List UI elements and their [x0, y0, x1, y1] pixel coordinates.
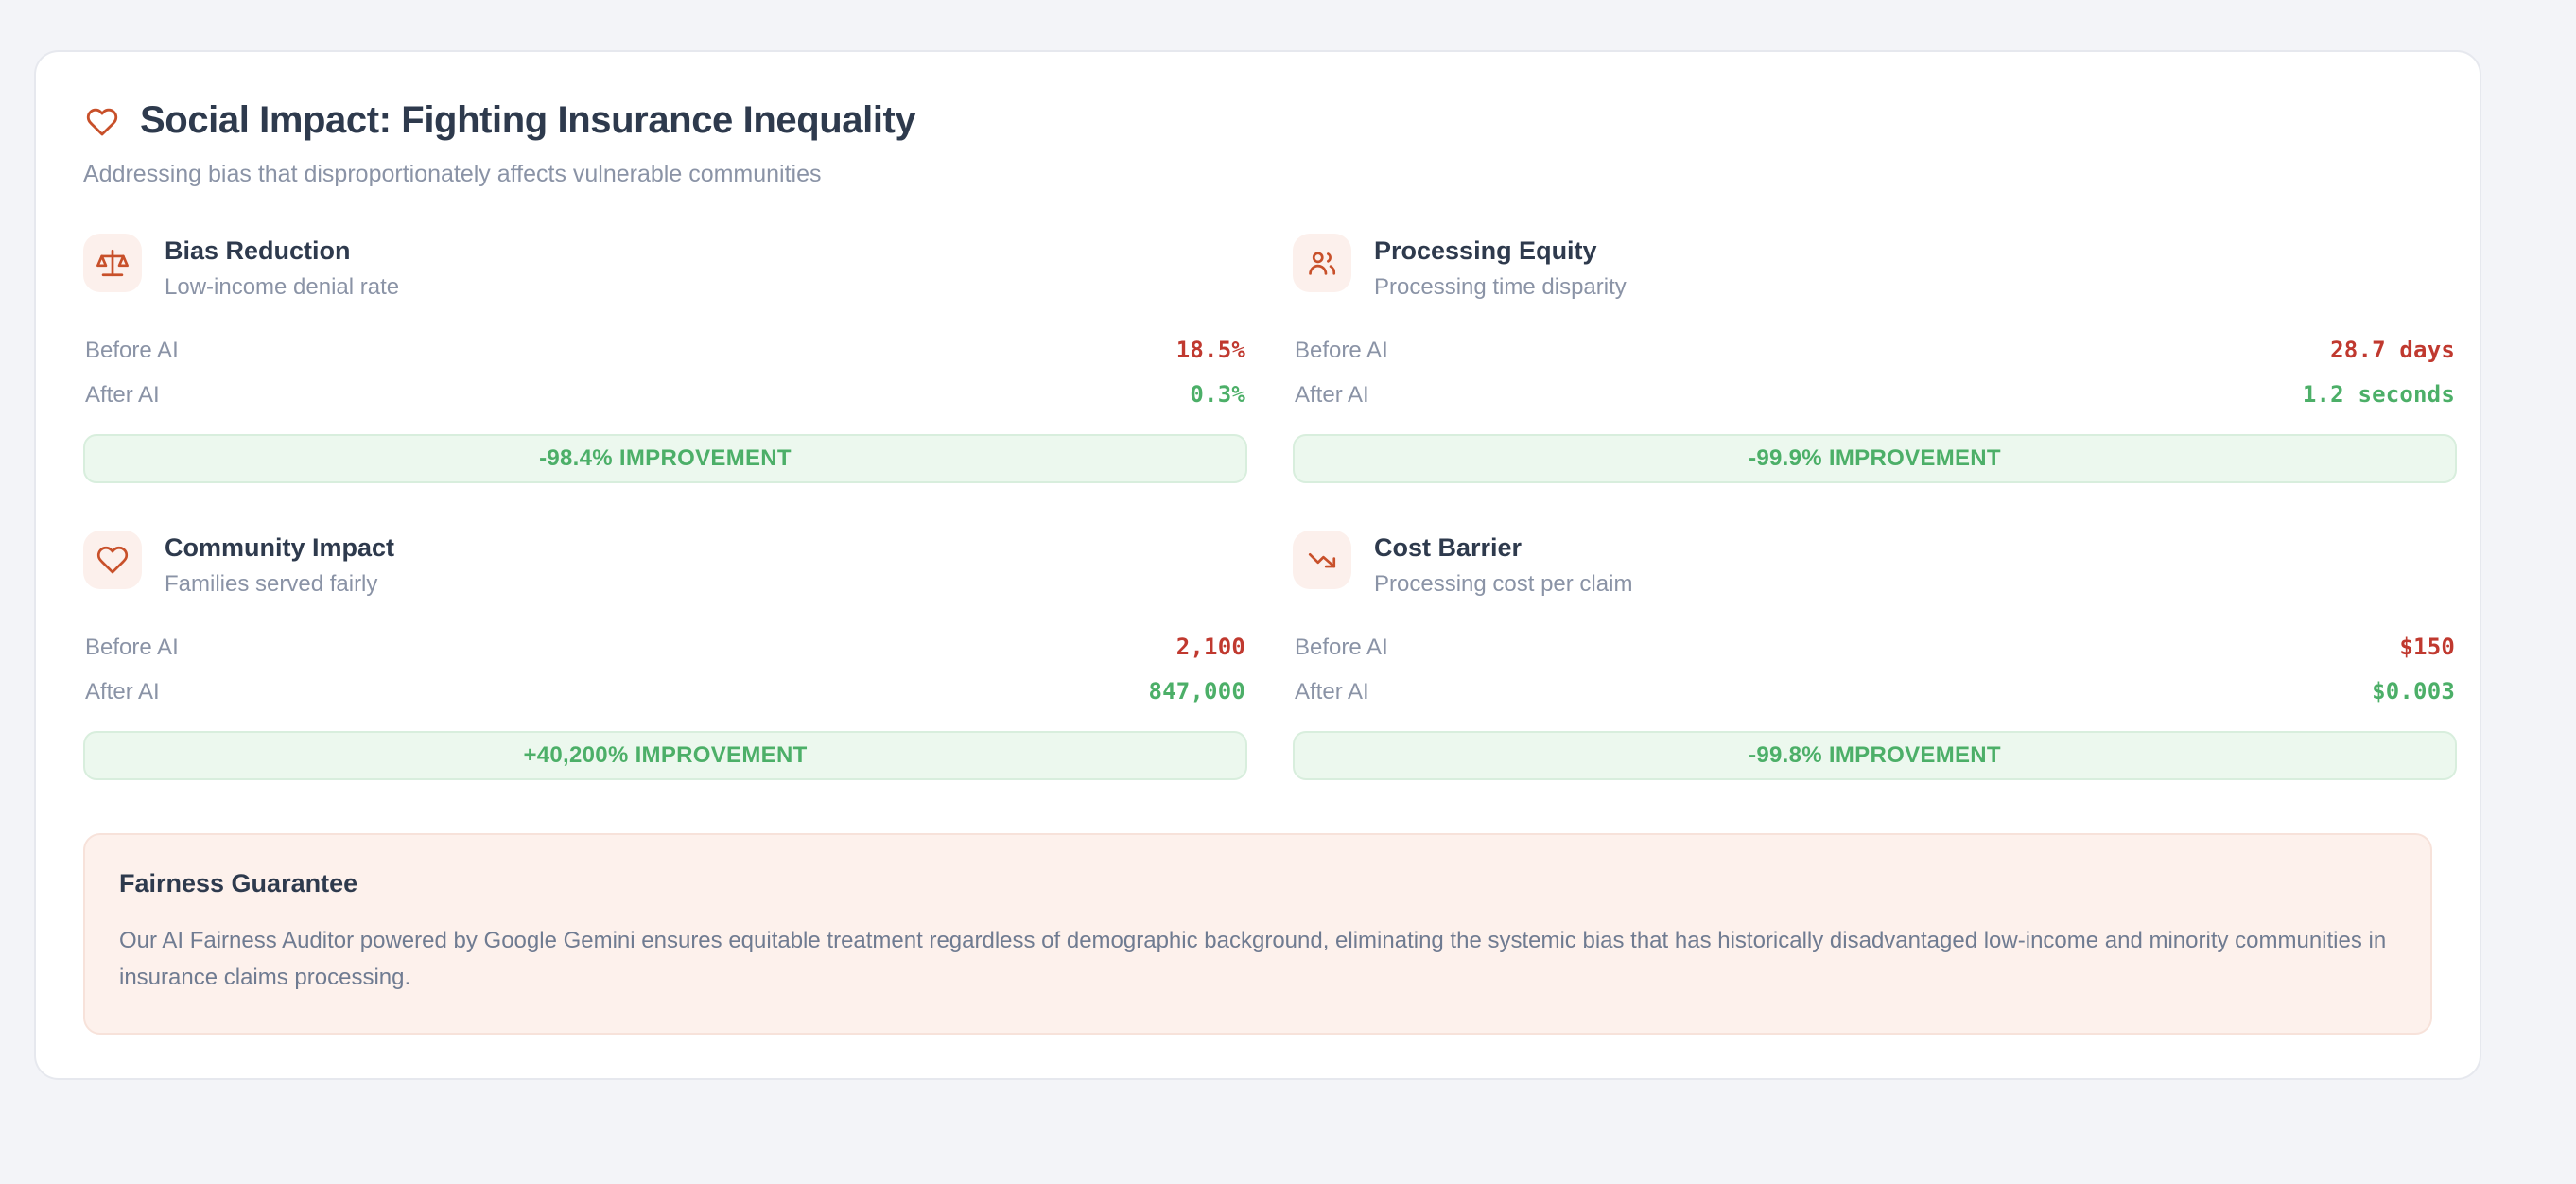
metric-header-text: Processing Equity Processing time dispar… [1374, 234, 1627, 302]
metric-title: Processing Equity [1374, 235, 1627, 266]
row-value-before: 18.5% [1176, 337, 1245, 363]
metric-title: Bias Reduction [165, 235, 399, 266]
metric-row-after: After AI 1.2 seconds [1293, 373, 2457, 417]
metric-row-after: After AI 0.3% [83, 373, 1247, 417]
users-icon [1293, 234, 1351, 292]
metric-card-cost-barrier: Cost Barrier Processing cost per claim B… [1293, 531, 2457, 780]
row-label-before: Before AI [1295, 338, 1388, 364]
improvement-badge: -99.9% IMPROVEMENT [1293, 434, 2457, 483]
fairness-guarantee-body: Our AI Fairness Auditor powered by Googl… [119, 923, 2396, 997]
heart-icon [83, 531, 142, 589]
metric-header: Bias Reduction Low-income denial rate [83, 234, 1247, 302]
metric-header-text: Cost Barrier Processing cost per claim [1374, 531, 1632, 599]
metric-card-processing-equity: Processing Equity Processing time dispar… [1293, 234, 2457, 483]
row-value-before: 2,100 [1176, 634, 1245, 660]
metric-header-text: Bias Reduction Low-income denial rate [165, 234, 399, 302]
metric-rows: Before AI 28.7 days After AI 1.2 seconds [1293, 328, 2457, 417]
row-label-after: After AI [1295, 679, 1369, 705]
fairness-guarantee-title: Fairness Guarantee [119, 868, 2396, 898]
panel-header: Social Impact: Fighting Insurance Inequa… [83, 97, 2432, 190]
metric-row-after: After AI 847,000 [83, 670, 1247, 714]
metric-row-after: After AI $0.003 [1293, 670, 2457, 714]
improvement-badge: -99.8% IMPROVEMENT [1293, 731, 2457, 780]
metric-subtitle: Processing time disparity [1374, 274, 1627, 302]
metric-title: Community Impact [165, 532, 394, 563]
metric-header: Community Impact Families served fairly [83, 531, 1247, 599]
heart-icon [83, 103, 121, 141]
row-label-before: Before AI [85, 338, 179, 364]
trending-down-icon [1293, 531, 1351, 589]
social-impact-panel: Social Impact: Fighting Insurance Inequa… [34, 50, 2481, 1080]
metric-card-bias-reduction: Bias Reduction Low-income denial rate Be… [83, 234, 1247, 483]
metric-rows: Before AI $150 After AI $0.003 [1293, 625, 2457, 714]
metric-card-community-impact: Community Impact Families served fairly … [83, 531, 1247, 780]
metric-rows: Before AI 18.5% After AI 0.3% [83, 328, 1247, 417]
metric-subtitle: Processing cost per claim [1374, 571, 1632, 599]
metric-title: Cost Barrier [1374, 532, 1632, 563]
improvement-label: -98.4% IMPROVEMENT [539, 445, 792, 472]
improvement-label: -99.9% IMPROVEMENT [1749, 445, 2001, 472]
improvement-badge: -98.4% IMPROVEMENT [83, 434, 1247, 483]
metric-header-text: Community Impact Families served fairly [165, 531, 394, 599]
improvement-label: -99.8% IMPROVEMENT [1749, 742, 2001, 769]
row-value-after: 1.2 seconds [2303, 381, 2455, 408]
row-label-after: After AI [85, 382, 160, 409]
metric-row-before: Before AI 28.7 days [1293, 328, 2457, 373]
row-value-after: 847,000 [1148, 678, 1245, 705]
improvement-badge: +40,200% IMPROVEMENT [83, 731, 1247, 780]
row-value-after: 0.3% [1190, 381, 1245, 408]
page-root: Social Impact: Fighting Insurance Inequa… [0, 0, 2576, 1184]
metric-header: Cost Barrier Processing cost per claim [1293, 531, 2457, 599]
metric-row-before: Before AI 18.5% [83, 328, 1247, 373]
panel-title-row: Social Impact: Fighting Insurance Inequa… [83, 97, 2432, 143]
scales-balance-icon [83, 234, 142, 292]
row-label-after: After AI [1295, 382, 1369, 409]
row-value-after: $0.003 [2372, 678, 2455, 705]
row-label-before: Before AI [85, 635, 179, 661]
metric-subtitle: Families served fairly [165, 571, 394, 599]
metric-subtitle: Low-income denial rate [165, 274, 399, 302]
improvement-label: +40,200% IMPROVEMENT [523, 742, 807, 769]
metric-row-before: Before AI $150 [1293, 625, 2457, 670]
page-title: Social Impact: Fighting Insurance Inequa… [140, 97, 915, 143]
fairness-guarantee-panel: Fairness Guarantee Our AI Fairness Audit… [83, 833, 2432, 1035]
metric-row-before: Before AI 2,100 [83, 625, 1247, 670]
row-value-before: $150 [2399, 634, 2455, 660]
row-label-before: Before AI [1295, 635, 1388, 661]
row-value-before: 28.7 days [2330, 337, 2455, 363]
panel-subtitle: Addressing bias that disproportionately … [83, 159, 2432, 190]
metric-header: Processing Equity Processing time dispar… [1293, 234, 2457, 302]
row-label-after: After AI [85, 679, 160, 705]
metric-rows: Before AI 2,100 After AI 847,000 [83, 625, 1247, 714]
metrics-grid: Bias Reduction Low-income denial rate Be… [83, 234, 2432, 780]
